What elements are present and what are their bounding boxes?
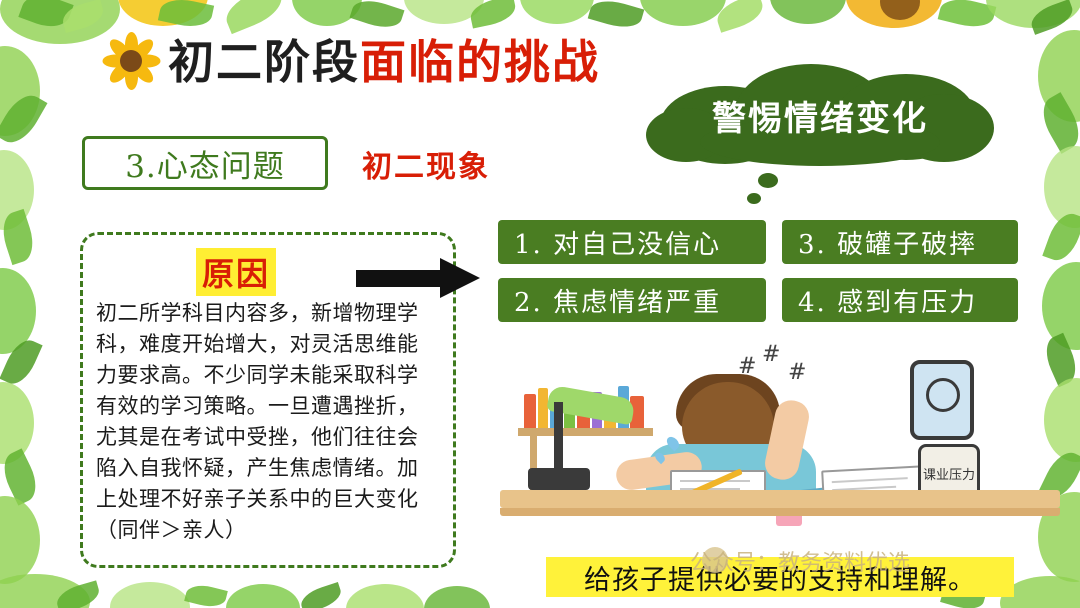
thought-cloud-text: 警惕情绪变化 [640,60,1000,170]
problem-item-3: 3. 破罐子破摔 [782,220,1018,264]
stress-mark-icon-2: # [762,342,780,367]
section-tag: 3.心态问题 [82,136,328,190]
student-illustration: # # # 课业压力 [470,340,1070,570]
watermark-text: 公众号：教务资料优选 [690,545,910,577]
thought-cloud: 警惕情绪变化 [640,60,1000,170]
sunflower-icon [103,33,159,89]
phenomenon-label: 初二现象 [362,142,490,186]
arrow-right-icon [356,258,486,298]
reason-text: 初二所学科目内容多，新增物理学科，难度开始增大，对灵活思维能力要求高。不少同学未… [96,298,438,546]
slide-root: 初二阶段面临的挑战 警惕情绪变化 3.心态问题 初二现象 原因 初二所学科目内容… [0,0,1080,608]
problem-item-1: 1. 对自己没信心 [498,220,766,264]
title-highlight: 面临的挑战 [360,35,600,89]
reason-label: 原因 [196,248,276,296]
thought-bubble-large [758,173,778,188]
left-leaf-border [0,0,60,608]
problem-item-4: 4. 感到有压力 [782,278,1018,322]
clock-icon [910,360,974,440]
desk-surface [500,490,1060,508]
bookshelf-icon [518,428,653,436]
stress-mark-icon-3: # [788,360,806,385]
thought-bubble-small [747,193,761,204]
page-title: 初二阶段面临的挑战 [168,26,600,92]
title-plain: 初二阶段 [168,35,360,89]
problem-item-2: 2. 焦虑情绪严重 [498,278,766,322]
